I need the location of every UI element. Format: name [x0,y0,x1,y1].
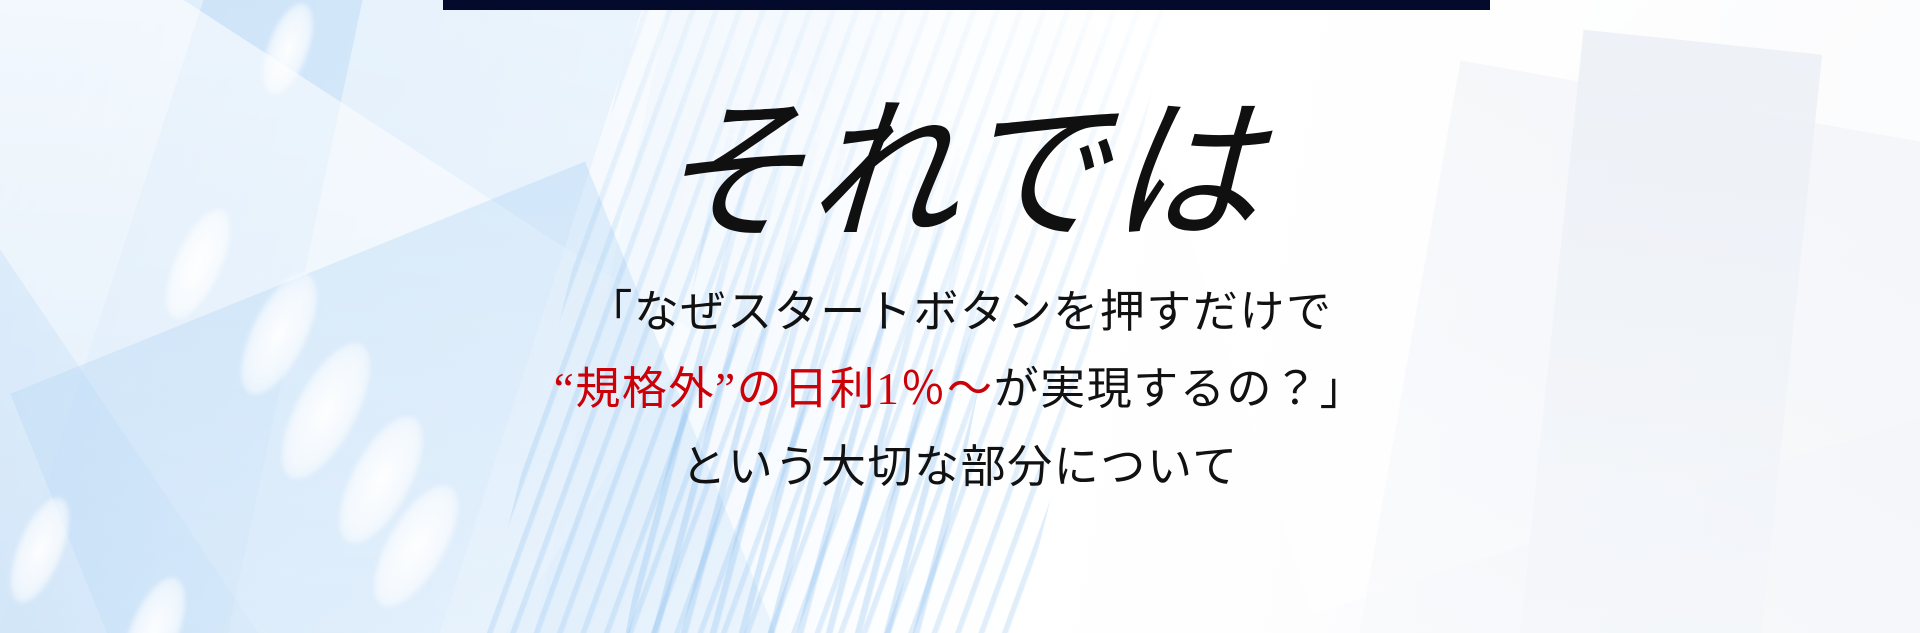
page-title: それでは [652,95,1268,251]
hero-content: それでは 「なぜスタートボタンを押すだけで “規格外”の日利1％〜が実現するの？… [0,0,1920,633]
subcopy-accent-text: “規格外”の日利1％〜 [554,364,994,414]
subcopy-line-2-rest: が実現するの？」 [994,364,1367,414]
subcopy-line-2: “規格外”の日利1％〜が実現するの？」 [554,351,1366,428]
subcopy-line-1: 「なぜスタートボタンを押すだけで [554,274,1366,351]
hero-subcopy: 「なぜスタートボタンを押すだけで “規格外”の日利1％〜が実現するの？」 という… [554,274,1366,506]
hero-section: それでは 「なぜスタートボタンを押すだけで “規格外”の日利1％〜が実現するの？… [0,0,1920,633]
subcopy-line-3: という大切な部分について [554,429,1366,506]
